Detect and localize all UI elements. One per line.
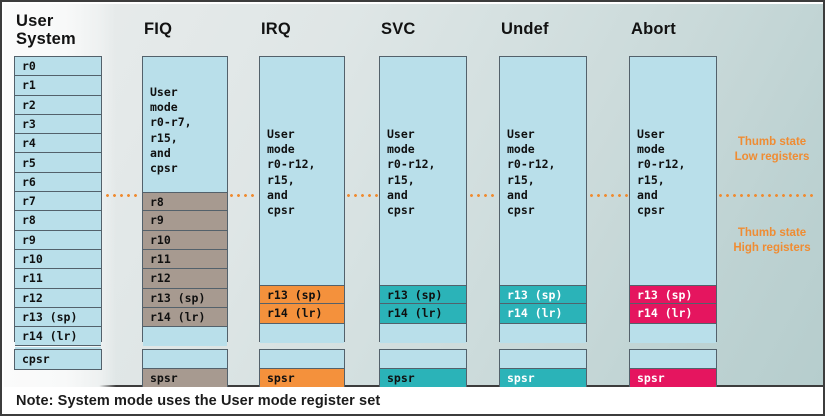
column-header-abort: Abort — [631, 20, 676, 38]
register-stack-abort: User mode r0-r12, r15, and cpsr r13 (sp)… — [629, 56, 717, 342]
column-header-irq: IRQ — [261, 20, 291, 38]
register-stack-undef: User mode r0-r12, r15, and cpsr r13 (sp)… — [499, 56, 587, 342]
thumb-separator-segment — [717, 194, 817, 197]
column-header-svc: SVC — [381, 20, 416, 38]
register-cell: r12 — [15, 289, 101, 308]
register-cell: r9 — [143, 211, 227, 230]
register-cell: r13 (sp) — [630, 285, 716, 304]
shared-registers-description-svc: User mode r0-r12, r15, and cpsr — [380, 127, 473, 218]
column-header-fiq: FIQ — [144, 20, 172, 38]
register-cell — [260, 324, 344, 343]
register-cell: r1 — [15, 76, 101, 95]
register-cell: r8 — [143, 192, 227, 211]
register-cell: r13 (sp) — [500, 285, 586, 304]
psr-blank-cell — [630, 350, 716, 369]
register-cell: r14 (lr) — [260, 304, 344, 323]
psr-box-irq: spsr — [259, 349, 345, 389]
register-cell — [380, 324, 466, 343]
register-cell: r10 — [143, 231, 227, 250]
spsr-cell: spsr — [143, 369, 227, 388]
shared-registers-description-irq: User mode r0-r12, r15, and cpsr — [260, 127, 351, 218]
cpsr-cell: cpsr — [15, 350, 101, 369]
register-cell: r13 (sp) — [143, 289, 227, 308]
column-header-undef: Undef — [501, 20, 549, 38]
register-cell: r4 — [15, 134, 101, 153]
diagram-panel: Thumb state Low registers Thumb state Hi… — [4, 4, 823, 387]
register-cell: r0 — [15, 57, 101, 76]
footer-bar: Note: System mode uses the User mode reg… — [4, 387, 823, 416]
register-cell: r2 — [15, 96, 101, 115]
register-cell — [630, 324, 716, 343]
psr-box-svc: spsr — [379, 349, 467, 389]
psr-box-abort: spsr — [629, 349, 717, 389]
spsr-cell: spsr — [380, 369, 466, 388]
column-header-user-system: User System — [16, 12, 76, 48]
psr-blank-cell — [500, 350, 586, 369]
psr-blank-cell — [260, 350, 344, 369]
register-cell: r14 (lr) — [143, 308, 227, 327]
psr-blank-cell — [143, 350, 227, 369]
register-cell: r9 — [15, 231, 101, 250]
psr-box-fiq: spsr — [142, 349, 228, 389]
thumb-separator-segment — [104, 194, 140, 197]
register-cell: r7 — [15, 192, 101, 211]
psr-box-user-system: cpsr — [14, 349, 102, 370]
footer-note-text: Note: System mode uses the User mode reg… — [16, 393, 380, 409]
psr-blank-cell — [380, 350, 466, 369]
register-cell: r5 — [15, 154, 101, 173]
register-cell: r8 — [15, 211, 101, 230]
register-stack-fiq: User mode r0-r7, r15, and cpsr r8 r9 r10… — [142, 56, 228, 342]
register-cell: r14 (lr) — [500, 304, 586, 323]
shared-registers-description-abort: User mode r0-r12, r15, and cpsr — [630, 127, 723, 218]
thumb-low-registers-label: Thumb state Low registers — [722, 135, 822, 164]
spsr-cell: spsr — [260, 369, 344, 388]
register-cell: r12 — [143, 269, 227, 288]
register-cell: r13 (sp) — [15, 308, 101, 327]
arm-register-banks-diagram: Thumb state Low registers Thumb state Hi… — [0, 0, 825, 416]
register-stack-svc: User mode r0-r12, r15, and cpsr r13 (sp)… — [379, 56, 467, 342]
spsr-cell: spsr — [630, 369, 716, 388]
spsr-cell: spsr — [500, 369, 586, 388]
register-stack-irq: User mode r0-r12, r15, and cpsr r13 (sp)… — [259, 56, 345, 342]
register-cell: r14 (lr) — [630, 304, 716, 323]
register-cell — [500, 324, 586, 343]
shared-registers-description-fiq: User mode r0-r7, r15, and cpsr — [143, 85, 234, 176]
register-cell — [143, 327, 227, 346]
register-cell: r13 (sp) — [260, 285, 344, 304]
register-cell: r11 — [15, 269, 101, 288]
thumb-separator-segment — [588, 194, 628, 197]
register-cell: r14 (lr) — [380, 304, 466, 323]
register-cell: r11 — [143, 250, 227, 269]
register-cell: r10 — [15, 250, 101, 269]
thumb-high-registers-label: Thumb state High registers — [722, 226, 822, 255]
register-cell: r6 — [15, 173, 101, 192]
register-stack-user-system: r0 r1 r2 r3 r4 r5 r6 r7 r8 r9 r10 r11 r1… — [14, 56, 102, 342]
shared-registers-description-undef: User mode r0-r12, r15, and cpsr — [500, 127, 593, 218]
register-cell: r14 (lr) — [15, 327, 101, 346]
psr-box-undef: spsr — [499, 349, 587, 389]
register-cell: r3 — [15, 115, 101, 134]
thumb-separator-segment — [228, 194, 258, 197]
register-cell: r13 (sp) — [380, 285, 466, 304]
